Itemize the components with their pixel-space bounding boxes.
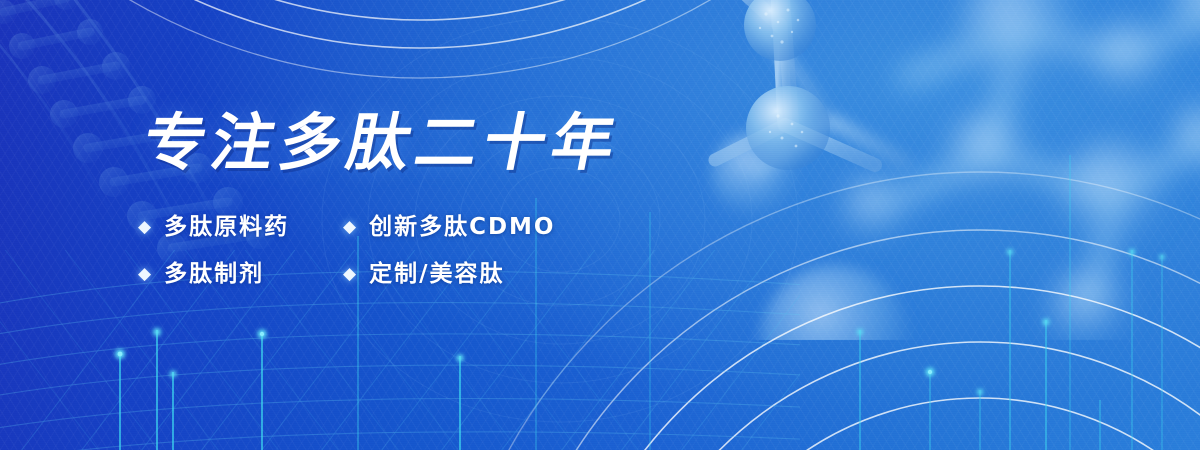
feature-label: 多肽制剂 [164, 259, 264, 290]
promo-banner: 专注多肽二十年 ◆ 多肽原料药 ◆ 创新多肽CDMO ◆ 多肽制剂 ◆ [0, 0, 1200, 450]
feature-item-peptide-api[interactable]: ◆ 多肽原料药 [138, 212, 343, 243]
feature-label: 多肽原料药 [164, 212, 289, 243]
feature-item-innovative-cdmo[interactable]: ◆ 创新多肽CDMO [343, 212, 556, 243]
feature-row: ◆ 多肽制剂 ◆ 定制/美容肽 [138, 259, 758, 290]
concentric-arcs-top [0, 0, 1010, 100]
diamond-bullet-icon: ◆ [138, 219, 153, 236]
feature-list: ◆ 多肽原料药 ◆ 创新多肽CDMO ◆ 多肽制剂 ◆ 定制/美容肽 [138, 212, 758, 290]
banner-headline: 专注多肽二十年 [138, 112, 626, 174]
diamond-bullet-icon: ◆ [138, 266, 153, 283]
feature-label: 定制/美容肽 [369, 259, 504, 290]
diamond-bullet-icon: ◆ [343, 266, 358, 283]
diamond-bullet-icon: ◆ [343, 219, 358, 236]
feature-row: ◆ 多肽原料药 ◆ 创新多肽CDMO [138, 212, 758, 243]
feature-item-peptide-formulation[interactable]: ◆ 多肽制剂 [138, 259, 343, 290]
feature-label: 创新多肽CDMO [369, 212, 555, 243]
banner-content: 专注多肽二十年 ◆ 多肽原料药 ◆ 创新多肽CDMO ◆ 多肽制剂 ◆ [138, 112, 758, 290]
feature-item-custom-cosmetic-peptide[interactable]: ◆ 定制/美容肽 [343, 259, 504, 290]
